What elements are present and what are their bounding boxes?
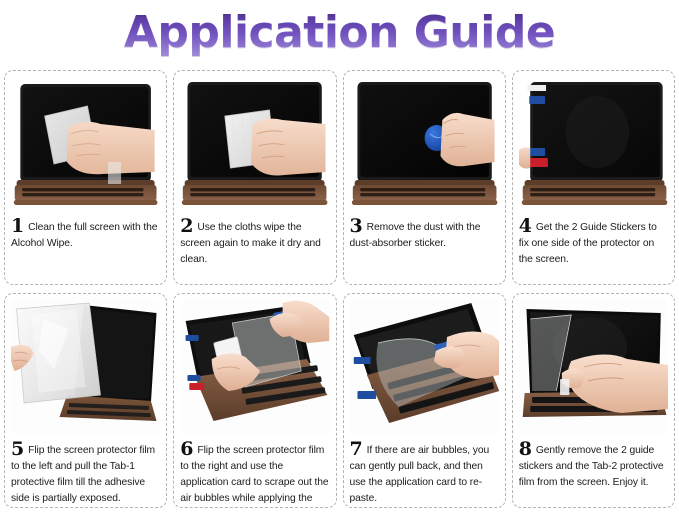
- page-title: Application Guide: [120, 11, 559, 59]
- step-image-2: [180, 76, 329, 212]
- step-panel-6: 6Flip the screen protector film to the r…: [173, 293, 336, 508]
- step-text-7: If there are air bubbles, you can gently…: [350, 445, 490, 504]
- step-number-7: 7: [350, 438, 363, 460]
- step-number-8: 8: [519, 438, 532, 460]
- step-text-3: Remove the dust with the dust-absorber s…: [350, 222, 481, 249]
- step-image-1: [11, 76, 160, 212]
- step-text-2: Use the cloths wipe the screen again to …: [180, 222, 321, 265]
- step-text-1: Clean the full screen with the Alcohol W…: [11, 222, 157, 249]
- step-number-4: 4: [519, 215, 532, 237]
- application-guide-page: Application Guide: [0, 0, 679, 525]
- step-number-5: 5: [11, 438, 24, 460]
- step-panel-8: 8Gently remove the 2 guide stickers and …: [512, 293, 675, 508]
- step-panel-3: 3Remove the dust with the dust-absorber …: [343, 70, 506, 285]
- step-image-7: [350, 299, 499, 435]
- step-number-1: 1: [11, 215, 24, 237]
- step-text-6: Flip the screen protector film to the ri…: [180, 445, 328, 508]
- step-image-5: [11, 299, 160, 435]
- step-panel-2: 2Use the cloths wipe the screen again to…: [173, 70, 336, 285]
- step-panel-1: 1Clean the full screen with the Alcohol …: [4, 70, 167, 285]
- step-number-2: 2: [180, 215, 193, 237]
- page-header: Application Guide: [0, 0, 679, 70]
- step-image-6: [180, 299, 329, 435]
- step-number-3: 3: [350, 215, 363, 237]
- step-caption-5: 5Flip the screen protector film to the l…: [11, 440, 160, 507]
- step-caption-3: 3Remove the dust with the dust-absorber …: [350, 217, 499, 252]
- step-caption-2: 2Use the cloths wipe the screen again to…: [180, 217, 329, 268]
- steps-grid: 1Clean the full screen with the Alcohol …: [0, 70, 679, 508]
- step-caption-8: 8Gently remove the 2 guide stickers and …: [519, 440, 668, 491]
- step-caption-1: 1Clean the full screen with the Alcohol …: [11, 217, 160, 252]
- step-caption-4: 4Get the 2 Guide Stickers to fix one sid…: [519, 217, 668, 268]
- step-caption-6: 6Flip the screen protector film to the r…: [180, 440, 329, 508]
- step-caption-7: 7If there are air bubbles, you can gentl…: [350, 440, 499, 507]
- step-text-4: Get the 2 Guide Stickers to fix one side…: [519, 222, 657, 265]
- step-number-6: 6: [180, 438, 193, 460]
- step-image-4: [519, 76, 668, 212]
- step-panel-4: 4Get the 2 Guide Stickers to fix one sid…: [512, 70, 675, 285]
- step-image-3: [350, 76, 499, 212]
- step-panel-5: 5Flip the screen protector film to the l…: [4, 293, 167, 508]
- step-image-8: [519, 299, 668, 435]
- step-text-8: Gently remove the 2 guide stickers and t…: [519, 445, 664, 488]
- step-panel-7: 7If there are air bubbles, you can gentl…: [343, 293, 506, 508]
- step-text-5: Flip the screen protector film to the le…: [11, 445, 155, 504]
